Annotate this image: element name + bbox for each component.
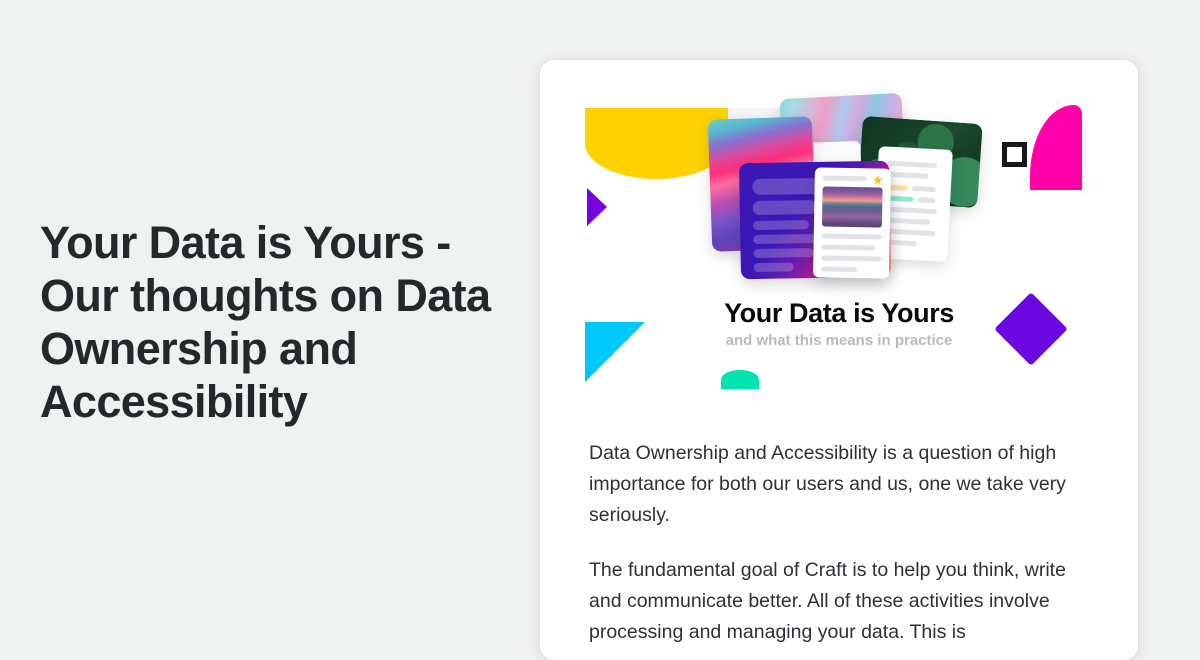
doc-text-line (912, 186, 936, 192)
doc-text-line (887, 161, 937, 169)
card-text-line (753, 248, 813, 258)
card-text-line (754, 262, 794, 272)
article-preview-card[interactable]: ★ Your Data is Yours and what this means… (540, 60, 1138, 660)
card-text-line (753, 220, 809, 230)
doc-text-line (822, 233, 882, 239)
purple-triangle-shape (587, 188, 607, 226)
doc-text-line (885, 207, 937, 215)
doc-title-line (823, 175, 867, 181)
doc-text-line (822, 244, 876, 250)
cover-title: Your Data is Yours (540, 298, 1138, 329)
doc-text-line (883, 228, 935, 236)
doc-text-line (821, 255, 881, 261)
document-photo-thumbnail (822, 186, 883, 227)
cyan-triangle-shape (585, 322, 645, 382)
cover-illustration: ★ Your Data is Yours and what this means… (540, 60, 1138, 410)
article-paragraph: Data Ownership and Accessibility is a qu… (589, 438, 1089, 531)
black-square-outline-shape (1002, 142, 1027, 167)
article-body: Data Ownership and Accessibility is a qu… (589, 438, 1089, 660)
green-half-disc-shape (721, 370, 759, 389)
doc-text-line (886, 172, 928, 179)
card-text-line (753, 200, 817, 215)
document-card-stack: ★ (700, 90, 950, 280)
cover-subtitle: and what this means in practice (540, 332, 1138, 349)
front-document-card: ★ (813, 167, 891, 278)
star-icon: ★ (872, 173, 884, 186)
article-paragraph: The fundamental goal of Craft is to help… (589, 555, 1089, 648)
pink-wedge-shape (1030, 105, 1082, 190)
doc-text-line (821, 266, 857, 272)
doc-text-line (917, 197, 935, 203)
doc-text-line (884, 218, 930, 225)
card-text-line (753, 234, 819, 244)
page-title: Your Data is Yours - Our thoughts on Dat… (40, 216, 510, 428)
